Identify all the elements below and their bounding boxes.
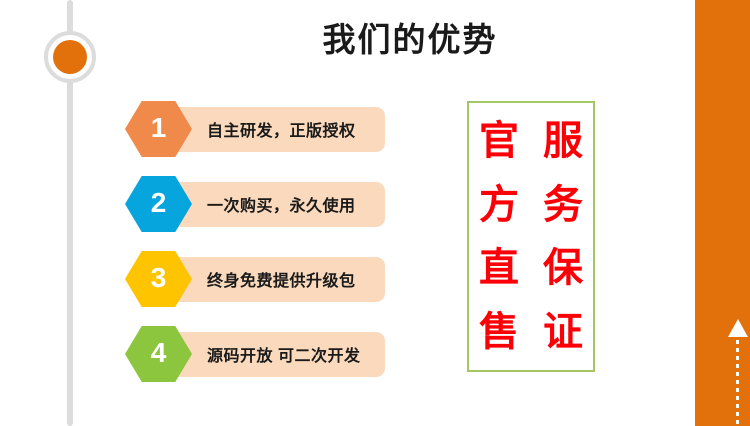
slogan-row: 售 证 [479, 312, 583, 352]
slogan-char: 官 [479, 121, 519, 161]
slogan-char: 方 [479, 185, 519, 225]
dotted-line-decoration [736, 340, 739, 426]
slogan-row: 官 服 [479, 121, 583, 161]
list-item: 3 终身免费提供升级包 [125, 251, 390, 307]
slogan-char: 售 [479, 312, 519, 352]
arrow-up-icon [728, 319, 748, 337]
slogan-char: 直 [479, 248, 519, 288]
feature-number: 3 [151, 264, 167, 294]
list-item: 2 一次购买，永久使用 [125, 176, 390, 232]
slide-canvas: 我们的优势 1 自主研发，正版授权 2 一次购买，永久使用 3 终身免费提供升级… [0, 0, 750, 426]
slogan-char: 务 [543, 185, 583, 225]
right-accent-bar [695, 0, 750, 426]
feature-label: 自主研发，正版授权 [207, 101, 356, 157]
feature-label: 源码开放 可二次开发 [207, 326, 360, 382]
slogan-char: 证 [543, 312, 583, 352]
list-item: 1 自主研发，正版授权 [125, 101, 390, 157]
slogan-box: 官 服 方 务 直 保 售 证 [467, 101, 595, 372]
slogan-char: 服 [543, 121, 583, 161]
feature-list: 1 自主研发，正版授权 2 一次购买，永久使用 3 终身免费提供升级包 4 源码… [0, 0, 420, 426]
slogan-row: 方 务 [479, 185, 583, 225]
feature-number: 1 [151, 114, 167, 144]
slogan-char: 保 [543, 248, 583, 288]
feature-number: 2 [151, 189, 167, 219]
feature-label: 一次购买，永久使用 [207, 176, 356, 232]
feature-number: 4 [151, 339, 167, 369]
feature-label: 终身免费提供升级包 [207, 251, 356, 307]
slogan-row: 直 保 [479, 248, 583, 288]
list-item: 4 源码开放 可二次开发 [125, 326, 390, 382]
